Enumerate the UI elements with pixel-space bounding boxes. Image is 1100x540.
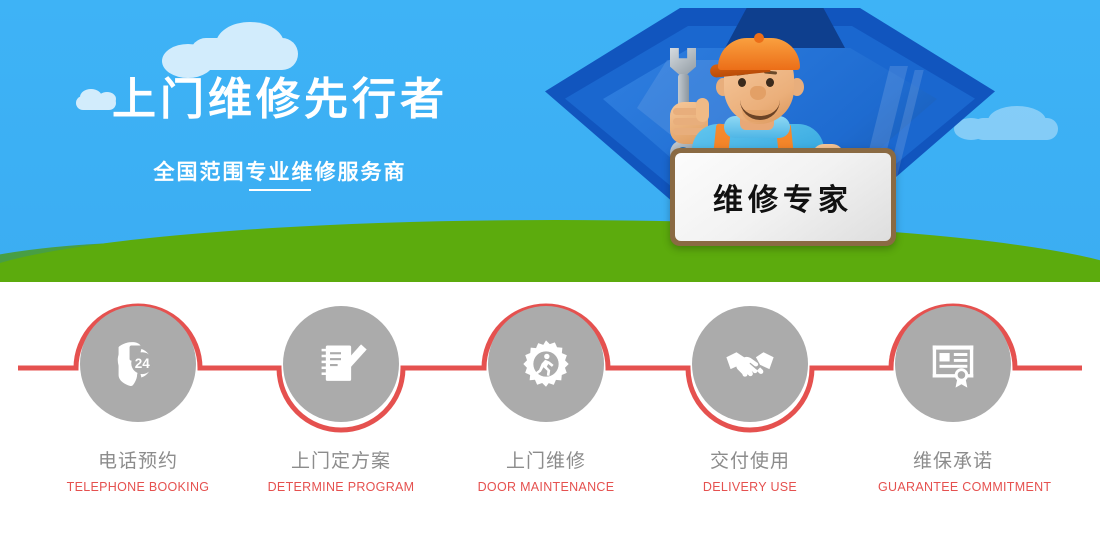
page-title: 上门维修先行者 — [0, 78, 560, 122]
process-step-1-circle[interactable]: 24 — [80, 306, 196, 422]
mascot-eye-left — [738, 78, 746, 87]
process-step-2-label-cn: 上门定方案 — [266, 446, 416, 473]
process-step-4[interactable]: 交付使用 DELIVERY USE — [675, 306, 825, 494]
sign-board-inner: 维修专家 — [675, 153, 891, 241]
process-step-3-circle[interactable] — [488, 306, 604, 422]
mascot-eye-right — [766, 78, 774, 87]
mascot-thumb — [696, 98, 709, 122]
svg-text:24: 24 — [135, 356, 151, 371]
process-step-5-label-en: GUARANTEE COMMITMENT — [878, 480, 1028, 494]
process-step-2-circle[interactable] — [283, 306, 399, 422]
hero-subtitle-wrap: 全国范围专业维修服务商 — [154, 156, 407, 186]
hero-subtitle-underline — [249, 189, 311, 191]
process-step-5-circle[interactable] — [895, 306, 1011, 422]
phone-24h-icon: 24 — [111, 337, 165, 391]
sign-board: 维修专家 — [670, 148, 896, 246]
process-step-3-label-en: DOOR MAINTENANCE — [471, 480, 621, 494]
sign-board-text: 维修专家 — [713, 175, 853, 219]
process-step-1-label-en: TELEPHONE BOOKING — [63, 480, 213, 494]
clipboard-pencil-icon — [314, 337, 368, 391]
process-steps-section: 24 电话预约 TELEPHONE BOOKING — [0, 282, 1100, 540]
process-step-3-label-cn: 上门维修 — [471, 446, 621, 473]
process-step-1-label-cn: 电话预约 — [63, 446, 213, 473]
banner-page: 维修专家 上门维修先行者 全国范围专业维修服务商 — [0, 0, 1100, 540]
hero-banner: 维修专家 上门维修先行者 全国范围专业维修服务商 — [0, 0, 1100, 282]
process-step-4-circle[interactable] — [692, 306, 808, 422]
process-step-1[interactable]: 24 电话预约 TELEPHONE BOOKING — [63, 306, 213, 494]
process-step-4-label-cn: 交付使用 — [675, 446, 825, 473]
process-step-4-label-en: DELIVERY USE — [675, 480, 825, 494]
process-step-5-label-cn: 维保承诺 — [878, 446, 1028, 473]
hero-text-block: 上门维修先行者 全国范围专业维修服务商 — [0, 78, 560, 186]
certificate-icon — [926, 337, 980, 391]
process-step-2[interactable]: 上门定方案 DETERMINE PROGRAM — [266, 306, 416, 494]
process-step-5[interactable]: 维保承诺 GUARANTEE COMMITMENT — [878, 306, 1028, 494]
process-step-2-label-en: DETERMINE PROGRAM — [266, 480, 416, 494]
mascot-nose — [750, 86, 766, 100]
hero-subtitle: 全国范围专业维修服务商 — [154, 160, 407, 184]
cap-button — [754, 33, 764, 43]
gear-person-icon — [519, 337, 573, 391]
handshake-icon — [723, 337, 777, 391]
cloud-large-left-icon — [190, 38, 298, 70]
process-step-3[interactable]: 上门维修 DOOR MAINTENANCE — [471, 306, 621, 494]
